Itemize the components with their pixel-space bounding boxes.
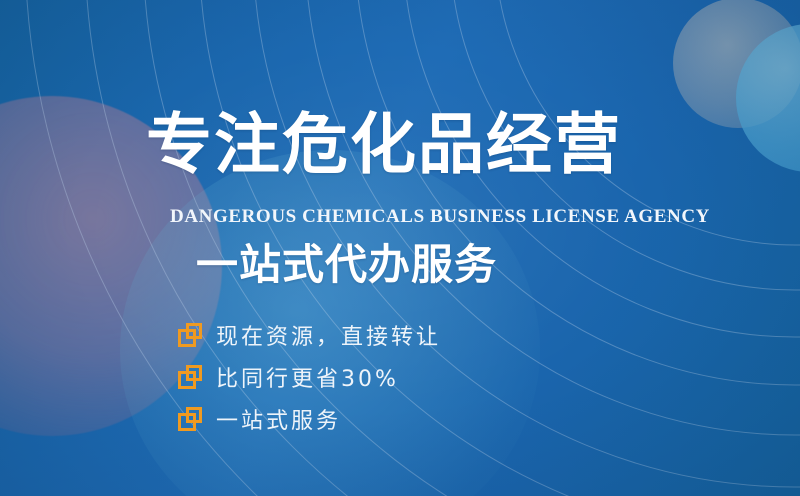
headline-english-subtitle: DANGEROUS CHEMICALS BUSINESS LICENSE AGE… bbox=[170, 206, 710, 228]
list-item: 一站式服务 bbox=[178, 400, 441, 438]
headline-secondary: 一站式代办服务 bbox=[196, 244, 497, 286]
overlapping-squares-icon bbox=[178, 407, 202, 431]
list-item-label: 比同行更省30% bbox=[216, 361, 399, 393]
overlapping-squares-icon bbox=[178, 365, 202, 389]
banner-content: 专注危化品经营 DANGEROUS CHEMICALS BUSINESS LIC… bbox=[0, 0, 800, 496]
overlapping-squares-icon bbox=[178, 323, 202, 347]
promotional-banner: 专注危化品经营 DANGEROUS CHEMICALS BUSINESS LIC… bbox=[0, 0, 800, 496]
list-item: 现在资源，直接转让 bbox=[178, 316, 441, 354]
list-item-label: 一站式服务 bbox=[216, 403, 341, 435]
list-item-label: 现在资源，直接转让 bbox=[216, 319, 441, 351]
headline-primary: 专注危化品经营 bbox=[146, 112, 622, 178]
feature-list: 现在资源，直接转让 比同行更省30% 一站式 bbox=[178, 316, 441, 442]
list-item: 比同行更省30% bbox=[178, 358, 441, 396]
